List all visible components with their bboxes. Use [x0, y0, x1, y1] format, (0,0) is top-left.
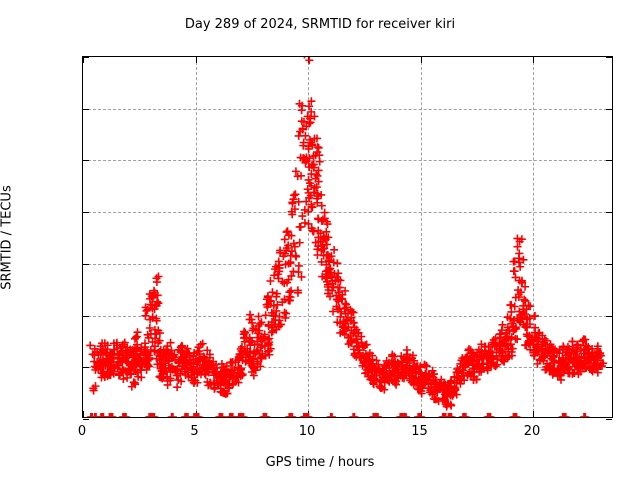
- data-point-marker: [412, 380, 420, 388]
- data-point-marker: [223, 367, 231, 375]
- data-point-marker: [449, 385, 457, 393]
- data-point-marker: [298, 117, 306, 125]
- data-point-marker: [422, 362, 430, 370]
- data-point-marker: [154, 299, 162, 307]
- data-point-marker: [159, 356, 167, 364]
- data-point-marker: [327, 413, 335, 417]
- data-point-marker: [388, 376, 396, 384]
- data-point-marker: [165, 365, 173, 373]
- data-point-marker: [367, 365, 375, 373]
- data-point-marker: [137, 358, 145, 366]
- data-point-marker: [596, 350, 604, 358]
- data-point-marker: [88, 413, 96, 417]
- data-point-marker: [581, 336, 589, 344]
- data-point-marker: [232, 373, 240, 381]
- data-point-marker: [126, 345, 134, 353]
- data-point-marker: [164, 348, 172, 356]
- data-point-marker: [151, 289, 159, 297]
- data-point-marker: [150, 293, 158, 301]
- data-point-marker: [369, 376, 377, 384]
- x-tick-mark: [83, 57, 84, 63]
- data-point-marker: [480, 364, 488, 372]
- data-point-marker: [125, 364, 133, 372]
- data-point-marker: [483, 350, 491, 358]
- data-point-marker: [459, 413, 467, 417]
- data-point-marker: [341, 324, 349, 332]
- data-point-marker: [298, 212, 306, 220]
- data-point-marker: [399, 357, 407, 365]
- data-point-marker: [133, 351, 141, 359]
- data-point-marker: [167, 339, 175, 347]
- data-point-marker: [123, 374, 131, 382]
- data-point-marker: [181, 357, 189, 365]
- data-point-marker: [133, 346, 141, 354]
- data-point-marker: [158, 353, 166, 361]
- data-point-marker: [561, 362, 569, 370]
- data-point-marker: [595, 353, 603, 361]
- data-point-marker: [510, 316, 518, 324]
- data-point-marker: [364, 373, 372, 381]
- data-point-marker: [169, 352, 177, 360]
- data-point-marker: [119, 350, 127, 358]
- data-point-marker: [519, 256, 527, 264]
- data-point-marker: [522, 322, 530, 330]
- data-point-marker: [220, 376, 228, 384]
- data-point-marker: [540, 352, 548, 360]
- data-point-marker: [107, 371, 115, 379]
- data-point-marker: [408, 369, 416, 377]
- data-point-marker: [497, 346, 505, 354]
- data-point-marker: [577, 345, 585, 353]
- data-point-marker: [239, 370, 247, 378]
- data-point-marker: [162, 350, 170, 358]
- data-point-marker: [549, 356, 557, 364]
- data-point-marker: [424, 372, 432, 380]
- data-point-marker: [467, 371, 475, 379]
- data-point-marker: [117, 357, 125, 365]
- data-point-marker: [237, 345, 245, 353]
- data-point-marker: [581, 354, 589, 362]
- data-point-marker: [98, 339, 106, 347]
- data-point-marker: [310, 164, 318, 172]
- data-point-marker: [269, 327, 277, 335]
- data-point-marker: [224, 381, 232, 389]
- data-point-marker: [219, 374, 227, 382]
- data-point-marker: [499, 339, 507, 347]
- data-point-marker: [525, 337, 533, 345]
- data-point-marker: [185, 356, 193, 364]
- data-point-marker: [91, 351, 99, 359]
- data-point-marker: [101, 373, 109, 381]
- data-point-marker: [377, 376, 385, 384]
- data-point-marker: [521, 323, 529, 331]
- data-point-marker: [290, 240, 298, 248]
- data-point-marker: [313, 148, 321, 156]
- data-point-marker: [164, 381, 172, 389]
- data-point-marker: [175, 359, 183, 367]
- data-point-marker: [259, 413, 267, 417]
- data-point-marker: [368, 356, 376, 364]
- data-point-marker: [156, 337, 164, 345]
- data-point-marker: [458, 354, 466, 362]
- data-point-marker: [175, 346, 183, 354]
- data-point-marker: [314, 215, 322, 223]
- data-point-marker: [391, 377, 399, 385]
- data-point-marker: [257, 355, 265, 363]
- data-point-marker: [449, 392, 457, 400]
- data-point-marker: [521, 297, 529, 305]
- data-point-marker: [97, 349, 105, 357]
- data-point-marker: [391, 379, 399, 387]
- data-point-marker: [159, 370, 167, 378]
- data-point-marker: [354, 329, 362, 337]
- data-point-marker: [123, 352, 131, 360]
- data-point-marker: [432, 376, 440, 384]
- data-point-marker: [288, 413, 296, 417]
- data-point-marker: [200, 357, 208, 365]
- data-point-marker: [262, 352, 270, 360]
- data-point-marker: [255, 327, 263, 335]
- data-point-marker: [575, 353, 583, 361]
- data-point-marker: [577, 368, 585, 376]
- data-point-marker: [350, 319, 358, 327]
- data-point-marker: [596, 362, 604, 370]
- data-point-marker: [409, 372, 417, 380]
- data-point-marker: [209, 358, 217, 366]
- data-point-marker: [184, 349, 192, 357]
- data-point-marker: [487, 413, 495, 417]
- data-point-marker: [106, 355, 114, 363]
- data-point-marker: [169, 353, 177, 361]
- data-point-marker: [380, 375, 388, 383]
- data-point-marker: [180, 355, 188, 363]
- data-point-marker: [424, 372, 432, 380]
- data-point-marker: [559, 359, 567, 367]
- data-point-marker: [475, 356, 483, 364]
- data-point-marker: [342, 310, 350, 318]
- data-point-marker: [153, 355, 161, 363]
- data-point-marker: [244, 353, 252, 361]
- data-point-marker: [336, 276, 344, 284]
- data-point-marker: [495, 338, 503, 346]
- data-point-marker: [573, 353, 581, 361]
- data-point-marker: [323, 240, 331, 248]
- data-point-marker: [123, 358, 131, 366]
- data-point-marker: [236, 355, 244, 363]
- data-point-marker: [273, 301, 281, 309]
- data-point-marker: [230, 371, 238, 379]
- data-point-marker: [549, 352, 557, 360]
- data-point-marker: [373, 356, 381, 364]
- data-point-marker: [463, 354, 471, 362]
- data-point-marker: [446, 413, 454, 417]
- data-point-marker: [485, 413, 493, 417]
- data-point-marker: [268, 324, 276, 332]
- data-point-marker: [237, 372, 245, 380]
- data-point-marker: [170, 351, 178, 359]
- data-point-marker: [251, 350, 259, 358]
- data-point-marker: [226, 358, 234, 366]
- data-point-marker: [569, 369, 577, 377]
- data-point-marker: [481, 347, 489, 355]
- data-point-marker: [157, 359, 165, 367]
- data-point-marker: [313, 134, 321, 142]
- data-point-marker: [333, 295, 341, 303]
- data-point-marker: [570, 369, 578, 377]
- data-point-marker: [542, 337, 550, 345]
- x-axis-label: GPS time / hours: [0, 455, 640, 470]
- data-point-marker: [95, 359, 103, 367]
- data-point-marker: [218, 388, 226, 396]
- data-point-marker: [589, 349, 597, 357]
- data-point-marker: [555, 357, 563, 365]
- data-point-marker: [345, 340, 353, 348]
- data-point-marker: [320, 233, 328, 241]
- data-point-marker: [483, 364, 491, 372]
- data-point-marker: [378, 384, 386, 392]
- data-point-marker: [330, 246, 338, 254]
- data-point-marker: [353, 335, 361, 343]
- data-point-marker: [329, 283, 337, 291]
- data-point-marker: [547, 340, 555, 348]
- data-point-marker: [238, 347, 246, 355]
- data-point-marker: [594, 342, 602, 350]
- data-point-marker: [400, 374, 408, 382]
- data-point-marker: [130, 378, 138, 386]
- data-point-marker: [184, 413, 192, 417]
- data-point-marker: [380, 369, 388, 377]
- data-point-marker: [173, 365, 181, 373]
- data-point-marker: [425, 379, 433, 387]
- data-point-marker: [179, 358, 187, 366]
- data-point-marker: [336, 313, 344, 321]
- data-point-marker: [284, 227, 292, 235]
- data-point-marker: [441, 386, 449, 394]
- data-point-marker: [398, 359, 406, 367]
- data-point-marker: [199, 340, 207, 348]
- data-point-marker: [178, 353, 186, 361]
- data-point-marker: [123, 358, 131, 366]
- data-point-marker: [241, 338, 249, 346]
- data-point-marker: [328, 413, 336, 417]
- data-point-marker: [223, 371, 231, 379]
- data-point-marker: [347, 327, 355, 335]
- data-point-marker: [250, 341, 258, 349]
- data-point-marker: [310, 135, 318, 143]
- data-point-marker: [409, 351, 417, 359]
- data-point-marker: [481, 342, 489, 350]
- data-point-marker: [222, 379, 230, 387]
- data-point-marker: [166, 376, 174, 384]
- data-point-marker: [335, 297, 343, 305]
- data-point-marker: [334, 269, 342, 277]
- data-point-marker: [514, 286, 522, 294]
- data-point-marker: [541, 335, 549, 343]
- data-point-marker: [187, 371, 195, 379]
- data-point-marker: [533, 336, 541, 344]
- data-point-marker: [539, 345, 547, 353]
- data-point-marker: [280, 295, 288, 303]
- data-point-marker: [280, 279, 288, 287]
- data-point-marker: [254, 329, 262, 337]
- data-point-marker: [390, 352, 398, 360]
- data-point-marker: [165, 357, 173, 365]
- data-point-marker: [441, 382, 449, 390]
- data-point-marker: [411, 377, 419, 385]
- data-point-marker: [515, 249, 523, 257]
- data-point-marker: [460, 372, 468, 380]
- data-point-marker: [479, 364, 487, 372]
- data-point-marker: [261, 413, 269, 417]
- data-point-marker: [302, 122, 310, 130]
- data-point-marker: [164, 377, 172, 385]
- data-point-marker: [124, 368, 132, 376]
- data-point-marker: [361, 357, 369, 365]
- data-point-marker: [498, 349, 506, 357]
- data-point-marker: [453, 368, 461, 376]
- data-point-marker: [422, 373, 430, 381]
- data-point-marker: [443, 391, 451, 399]
- data-point-marker: [459, 362, 467, 370]
- data-point-marker: [364, 351, 372, 359]
- data-point-marker: [447, 383, 455, 391]
- data-point-marker: [265, 351, 273, 359]
- data-point-marker: [123, 344, 131, 352]
- data-point-marker: [234, 369, 242, 377]
- data-point-marker: [470, 376, 478, 384]
- data-point-marker: [505, 352, 513, 360]
- data-point-marker: [324, 233, 332, 241]
- data-point-marker: [504, 345, 512, 353]
- data-point-marker: [115, 355, 123, 363]
- data-point-marker: [370, 413, 378, 417]
- data-point-marker: [217, 413, 225, 417]
- data-point-marker: [330, 258, 338, 266]
- data-point-marker: [361, 341, 369, 349]
- data-point-marker: [346, 332, 354, 340]
- data-point-marker: [470, 354, 478, 362]
- data-point-marker: [503, 336, 511, 344]
- data-point-marker: [314, 242, 322, 250]
- data-point-marker: [130, 358, 138, 366]
- data-point-marker: [443, 401, 451, 409]
- data-point-marker: [588, 345, 596, 353]
- data-point-marker: [274, 270, 282, 278]
- data-point-marker: [145, 355, 153, 363]
- data-point-marker: [361, 362, 369, 370]
- data-point-marker: [214, 380, 222, 388]
- data-point-marker: [127, 362, 135, 370]
- data-point-marker: [148, 301, 156, 309]
- data-point-marker: [145, 413, 153, 417]
- data-point-marker: [115, 362, 123, 370]
- data-point-marker: [151, 305, 159, 313]
- data-point-marker: [470, 365, 478, 373]
- data-point-marker: [426, 373, 434, 381]
- data-point-marker: [222, 376, 230, 384]
- data-point-marker: [465, 356, 473, 364]
- data-point-marker: [265, 335, 273, 343]
- data-point-marker: [119, 341, 127, 349]
- data-point-marker: [377, 378, 385, 386]
- data-point-marker: [453, 391, 461, 399]
- data-point-marker: [533, 334, 541, 342]
- data-point-marker: [447, 382, 455, 390]
- data-point-marker: [436, 385, 444, 393]
- data-point-marker: [162, 346, 170, 354]
- data-point-marker: [518, 277, 526, 285]
- data-point-marker: [225, 369, 233, 377]
- data-point-marker: [504, 323, 512, 331]
- data-point-marker: [92, 382, 100, 390]
- data-point-marker: [480, 355, 488, 363]
- data-point-marker: [430, 370, 438, 378]
- data-point-marker: [296, 239, 304, 247]
- data-point-marker: [377, 384, 385, 392]
- data-point-marker: [376, 383, 384, 391]
- data-point-marker: [240, 334, 248, 342]
- data-point-marker: [396, 413, 404, 417]
- data-point-marker: [222, 372, 230, 380]
- data-point-marker: [535, 346, 543, 354]
- data-point-marker: [268, 328, 276, 336]
- data-point-marker: [173, 372, 181, 380]
- data-point-marker: [573, 341, 581, 349]
- data-point-marker: [248, 319, 256, 327]
- data-point-marker: [442, 393, 450, 401]
- data-point-marker: [207, 379, 215, 387]
- data-point-marker: [263, 303, 271, 311]
- data-point-marker: [486, 354, 494, 362]
- data-point-marker: [295, 132, 303, 140]
- data-point-marker: [178, 362, 186, 370]
- data-point-marker: [383, 357, 391, 365]
- data-point-marker: [218, 376, 226, 384]
- data-point-marker: [275, 316, 283, 324]
- data-point-marker: [220, 369, 228, 377]
- data-point-marker: [447, 400, 455, 408]
- data-point-marker: [92, 413, 100, 417]
- data-point-marker: [216, 373, 224, 381]
- data-point-marker: [448, 386, 456, 394]
- data-point-marker: [226, 374, 234, 382]
- data-point-marker: [264, 340, 272, 348]
- data-point-marker: [504, 354, 512, 362]
- data-point-marker: [594, 347, 602, 355]
- data-point-marker: [332, 302, 340, 310]
- data-point-marker: [217, 369, 225, 377]
- data-point-marker: [275, 274, 283, 282]
- data-point-marker: [441, 379, 449, 387]
- data-point-marker: [401, 369, 409, 377]
- data-point-marker: [132, 347, 140, 355]
- data-point-marker: [97, 348, 105, 356]
- data-point-marker: [508, 352, 516, 360]
- data-point-marker: [312, 175, 320, 183]
- data-point-marker: [248, 362, 256, 370]
- data-point-marker: [100, 371, 108, 379]
- data-point-marker: [286, 296, 294, 304]
- data-point-marker: [489, 339, 497, 347]
- data-point-marker: [523, 324, 531, 332]
- data-point-marker: [131, 380, 139, 388]
- data-point-marker: [128, 383, 136, 391]
- data-point-marker: [315, 166, 323, 174]
- data-point-marker: [246, 347, 254, 355]
- data-point-marker: [425, 377, 433, 385]
- data-point-marker: [575, 354, 583, 362]
- data-point-marker: [197, 355, 205, 363]
